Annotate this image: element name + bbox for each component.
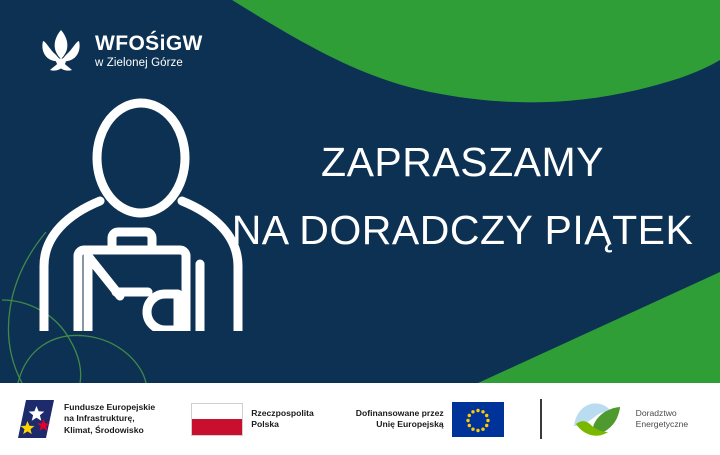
brand-logo: WFOŚiGW w Zielonej Górze (38, 28, 203, 74)
footer-label-dofinansowane-przez-ue: Dofinansowane przez Unię Europejską (356, 408, 444, 431)
footer-label-line: Rzeczpospolita (251, 408, 314, 419)
page-title: ZAPRASZAMY NA DORADCZY PIĄTEK (215, 138, 710, 254)
brand-text-block: WFOŚiGW w Zielonej Górze (95, 33, 203, 70)
headline-line-1: ZAPRASZAMY (215, 138, 710, 186)
footer-label-line: Fundusze Europejskie (64, 402, 155, 413)
footer-label-rzeczpospolita-polska: Rzeczpospolita Polska (251, 408, 314, 431)
footer-label-doradztwo-energetyczne: Doradztwo Energetyczne (636, 408, 689, 431)
footer-label-line: Dofinansowane przez (356, 408, 444, 419)
footer-item-dofinansowane-przez-ue: Dofinansowane przez Unię Europejską (356, 402, 504, 437)
advisor-head (97, 103, 185, 213)
brand-name: WFOŚiGW (95, 33, 203, 54)
headline-line-2: NA DORADCZY PIĄTEK (215, 206, 710, 254)
footer-label-line: Klimat, Środowisko (64, 425, 155, 436)
footer-item-fundusze-europejskie: Fundusze Europejskie na Infrastrukturę, … (16, 397, 155, 441)
footer-label-line: na Infrastrukturę, (64, 413, 155, 424)
footer-item-doradztwo-energetyczne: Doradztwo Energetyczne (570, 398, 689, 440)
brand-subtitle: w Zielonej Górze (95, 58, 203, 70)
footer-label-line: Unię Europejską (356, 419, 444, 430)
leaf-flower-icon (38, 28, 84, 74)
footer-label-line: Energetyczne (636, 419, 689, 430)
doradztwo-energetyczne-leaf-icon (570, 398, 628, 440)
advisor-hand (147, 294, 178, 330)
footer-label-line: Polska (251, 419, 314, 430)
poland-flag-white-band (192, 404, 242, 420)
eu-flag-icon (452, 402, 504, 437)
footer-label-line: Doradztwo (636, 408, 689, 419)
footer-divider (540, 399, 542, 439)
banner-poster: WFOŚiGW w Zielonej Górze (0, 0, 720, 455)
poland-flag-red-band (192, 419, 242, 435)
footer-label-fundusze-europejskie: Fundusze Europejskie na Infrastrukturę, … (64, 402, 155, 436)
poland-flag-icon (191, 403, 243, 436)
fundusze-europejskie-stars-icon (16, 397, 56, 441)
footer-logo-bar: Fundusze Europejskie na Infrastrukturę, … (0, 383, 720, 455)
footer-item-rzeczpospolita-polska: Rzeczpospolita Polska (191, 403, 314, 436)
